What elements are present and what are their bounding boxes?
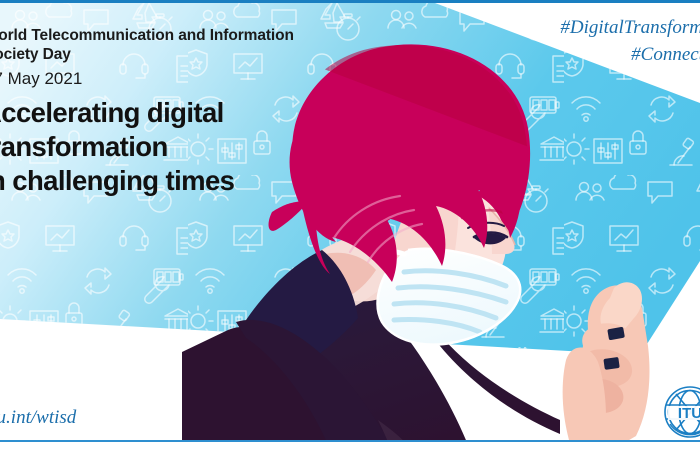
itu-logo-text: ITU — [678, 405, 700, 422]
hashtag-connect2030[interactable]: #Connect2030 — [560, 41, 700, 68]
event-url[interactable]: itu.int/wtisd — [0, 407, 76, 429]
headline: Accelerating digital transformation in c… — [0, 96, 322, 198]
event-eyebrow: World Telecommunication and Information … — [0, 26, 314, 91]
headline-line1: Accelerating digital — [0, 96, 322, 130]
event-date: 17 May 2021 — [0, 67, 314, 91]
hashtag-list: #DigitalTransformation #Connect2030 — [560, 14, 700, 68]
bottom-rule — [0, 440, 700, 442]
headline-line2: transformation — [0, 130, 322, 164]
itu-logo[interactable]: ITU — [662, 382, 700, 442]
eyebrow-line1: World Telecommunication and — [0, 27, 206, 44]
wtisd-banner: World Telecommunication and Information … — [0, 0, 700, 450]
top-rule — [0, 0, 700, 3]
hashtag-digital-transformation[interactable]: #DigitalTransformation — [560, 14, 700, 41]
headline-line3: in challenging times — [0, 164, 322, 198]
